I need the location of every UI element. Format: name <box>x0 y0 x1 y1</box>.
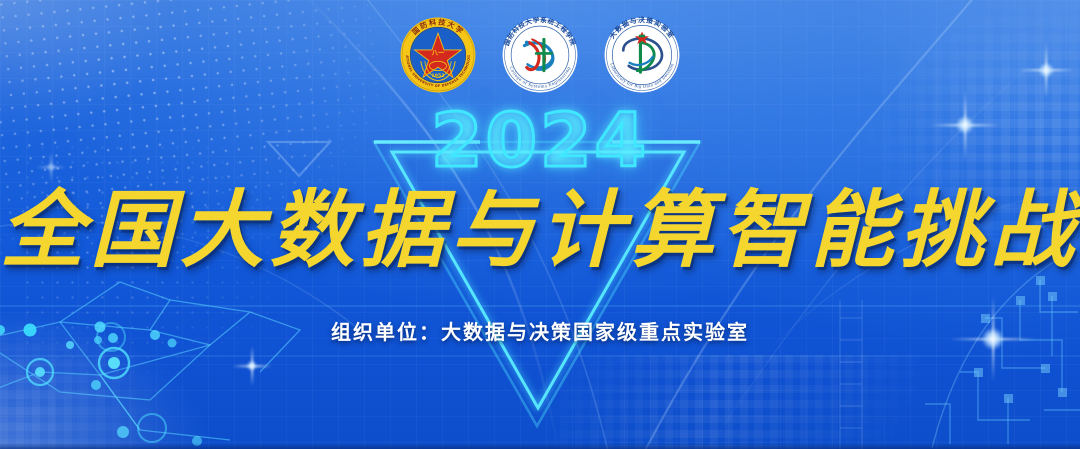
lens-flare-star-4 <box>232 346 272 386</box>
circuit-traces <box>925 252 1080 448</box>
square-mosaic-bottom-left <box>0 279 230 449</box>
organizer-label: 组织单位：大数据与决策国家级重点实验室 <box>331 316 749 345</box>
subtitle-row: 组织单位：大数据与决策国家级重点实验室 <box>0 316 1080 350</box>
square-mosaic-center <box>560 355 920 449</box>
logo-laboratory-for-big-data-and-decision: 大数据与决策实验室 Laboratory for Big Data and De… <box>603 16 681 94</box>
year-label: 2024 <box>0 104 1080 178</box>
logo-college-of-systems-engineering: 国防科技大学系统工程学院 College of Systems Engineer… <box>501 16 579 94</box>
network-node-graph <box>0 282 300 440</box>
page-title: 全国大数据与计算智能挑战赛 <box>0 186 1080 274</box>
bottom-shadow-band <box>0 443 1080 449</box>
competition-banner: 国防科技大学 NATIONAL UNIVERSITY OF DEFENSE TE… <box>0 0 1080 449</box>
logo-national-university-of-defense-technology: 国防科技大学 NATIONAL UNIVERSITY OF DEFENSE TE… <box>399 16 477 94</box>
svg-text:八一: 八一 <box>431 50 445 57</box>
logo-row: 国防科技大学 NATIONAL UNIVERSITY OF DEFENSE TE… <box>0 16 1080 94</box>
svg-text:1953: 1953 <box>432 73 445 79</box>
